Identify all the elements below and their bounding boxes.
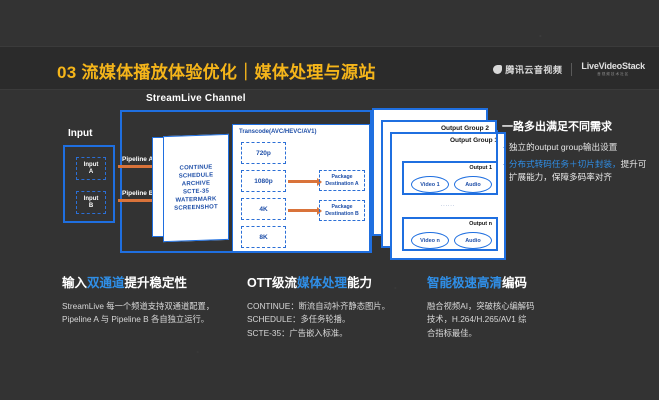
summary-heading-encoding-highlight: 编码 [502, 276, 527, 290]
right-panel-accent-rule [496, 130, 498, 185]
summary-ott-line-1: SCHEDULE：多任务轮播。 [247, 313, 422, 326]
resolution-chip-8k: 8K [241, 226, 286, 248]
summary-input-line-1: Pipeline A 与 Pipeline B 各自独立运行。 [62, 313, 242, 326]
input-b-chip: Input B [76, 191, 106, 214]
output-group-1-title: Output Group 1 [450, 137, 498, 144]
transcode-to-package-b-arrow-icon [288, 209, 318, 212]
pipeline-b-label: Pipeline B [122, 190, 153, 197]
output-1-label: Output 1 [469, 165, 492, 171]
summary-heading-input-prefix: 输入 [62, 276, 87, 290]
bullet-icon: · [502, 141, 505, 154]
output-group-1-card: Output Group 1 Output 1 Video 1 Audio ..… [390, 132, 506, 260]
output-n-label: Output n [469, 221, 492, 227]
feature-item-scte35: SCTE-35 [183, 189, 209, 196]
feature-card: CONTINUE SCHEDULE ARCHIVE SCTE-35 WATERM… [163, 134, 229, 242]
input-a-chip: Input A [76, 157, 106, 180]
resolution-chip-720p: 720p [241, 142, 286, 164]
livevideostack-logo: LiveVideoStack 音视频技术社区 [581, 61, 645, 77]
bottom-summary-row: 输入双通道提升稳定性 StreamLive 每一个频道支持双通道配置， Pipe… [0, 272, 659, 372]
tencent-mark-icon [493, 65, 502, 74]
right-panel-item-0: · 独立的output group输出设置 [502, 141, 652, 154]
bullet-icon: · [502, 158, 505, 184]
summary-input-line-0: StreamLive 每一个频道支持双通道配置， [62, 300, 242, 313]
pipeline-a-label: Pipeline A [122, 156, 153, 163]
summary-encoding-line-1: 技术，H.264/H.265/AV1 综 [427, 313, 612, 326]
slide-root: 03 流媒体播放体验优化｜媒体处理与源站 腾讯云音视频 LiveVideoSta… [0, 0, 659, 400]
header-logos: 腾讯云音视频 LiveVideoStack 音视频技术社区 [493, 61, 645, 77]
input-section-label: Input [68, 128, 92, 139]
feature-item-continue: CONTINUE [180, 164, 213, 171]
resolution-chip-4k: 4K [241, 198, 286, 220]
summary-heading-encoding: 智能极速高清编码 [427, 272, 612, 291]
right-panel-item-1-text: 分布式转码任务＋切片封装，提升可扩展能力，保障多码率对齐 [509, 158, 652, 184]
right-panel-item-1: · 分布式转码任务＋切片封装，提升可扩展能力，保障多码率对齐 [502, 158, 652, 184]
output-1-audio-ellipse: Audio [454, 176, 492, 193]
feature-item-schedule: SCHEDULE [179, 172, 214, 179]
feature-item-watermark: WATERMARK [175, 196, 216, 203]
input-a-line1: Input [84, 162, 99, 169]
output-1-box: Output 1 Video 1 Audio [402, 161, 498, 195]
right-panel: 一路多出满足不同需求 · 独立的output group输出设置 · 分布式转码… [502, 118, 652, 188]
summary-heading-ott: OTT级流媒体处理能力 [247, 272, 422, 291]
package-destination-a-chip: Package Destination A [319, 170, 365, 191]
summary-heading-input: 输入双通道提升稳定性 [62, 272, 242, 291]
transcode-panel-title: Transcode(AVC/HEVC/AV1) [239, 129, 316, 135]
streamlive-channel-title: StreamLive Channel [146, 93, 246, 104]
package-b-line2: Destination B [325, 211, 358, 218]
page-title: 03 流媒体播放体验优化｜媒体处理与源站 [57, 58, 376, 83]
transcode-panel: Transcode(AVC/HEVC/AV1) 720p 1080p 4K 8K… [232, 124, 370, 252]
input-group-box: Input A Input B [63, 145, 115, 223]
summary-heading-input-highlight: 双通道 [87, 276, 125, 290]
right-panel-heading: 一路多出满足不同需求 [502, 118, 652, 134]
slide-header: 03 流媒体播放体验优化｜媒体处理与源站 腾讯云音视频 LiveVideoSta… [0, 46, 659, 90]
input-b-line2: B [89, 203, 93, 210]
package-a-line2: Destination A [325, 181, 358, 188]
output-list-ellipsis: ...... [441, 202, 455, 208]
summary-column-encoding: 智能极速高清编码 融合视频AI，突破核心编解码 技术，H.264/H.265/A… [427, 272, 612, 340]
logo-divider [571, 63, 572, 76]
feature-item-archive: ARCHIVE [182, 181, 210, 188]
livevideostack-label: LiveVideoStack [581, 61, 645, 71]
summary-column-input: 输入双通道提升稳定性 StreamLive 每一个频道支持双通道配置， Pipe… [62, 272, 242, 327]
input-a-line2: A [89, 169, 93, 176]
summary-heading-ott-highlight: 媒体处理 [297, 276, 347, 290]
livevideostack-sublabel: 音视频技术社区 [597, 72, 629, 77]
tencent-logo-label: 腾讯云音视频 [505, 63, 562, 76]
output-n-audio-ellipse: Audio [454, 232, 492, 249]
feature-item-screenshot: SCREENSHOT [174, 204, 218, 212]
output-n-box: Output n Video n Audio [402, 217, 498, 251]
transcode-to-package-a-arrow-icon [288, 180, 318, 183]
right-panel-item-1-accent: 分布式转码任务＋切片封装， [509, 159, 621, 169]
architecture-diagram: StreamLive Channel Input Input A Input B… [0, 92, 500, 264]
summary-heading-encoding-prefix: 智能极速高清 [427, 276, 502, 290]
resolution-chip-1080p: 1080p [241, 170, 286, 192]
summary-heading-input-suffix: 提升稳定性 [125, 276, 188, 290]
tencent-cloud-logo: 腾讯云音视频 [493, 63, 562, 76]
input-b-line1: Input [84, 196, 99, 203]
summary-column-ott: OTT级流媒体处理能力 CONTINUE：断流自动补齐静态图片。 SCHEDUL… [247, 272, 422, 340]
summary-heading-ott-prefix: OTT级流 [247, 276, 297, 290]
output-1-video-ellipse: Video 1 [411, 176, 449, 193]
output-group-n-title: Output Group n [432, 113, 480, 120]
summary-ott-line-2: SCTE-35：广告嵌入标准。 [247, 327, 422, 340]
output-group-2-title: Output Group 2 [441, 125, 489, 132]
output-n-video-ellipse: Video n [411, 232, 449, 249]
summary-heading-ott-suffix: 能力 [347, 276, 372, 290]
summary-encoding-line-0: 融合视频AI，突破核心编解码 [427, 300, 612, 313]
right-panel-item-0-text: 独立的output group输出设置 [509, 141, 617, 154]
summary-encoding-line-2: 合指标最佳。 [427, 327, 612, 340]
summary-ott-line-0: CONTINUE：断流自动补齐静态图片。 [247, 300, 422, 313]
package-destination-b-chip: Package Destination B [319, 200, 365, 221]
